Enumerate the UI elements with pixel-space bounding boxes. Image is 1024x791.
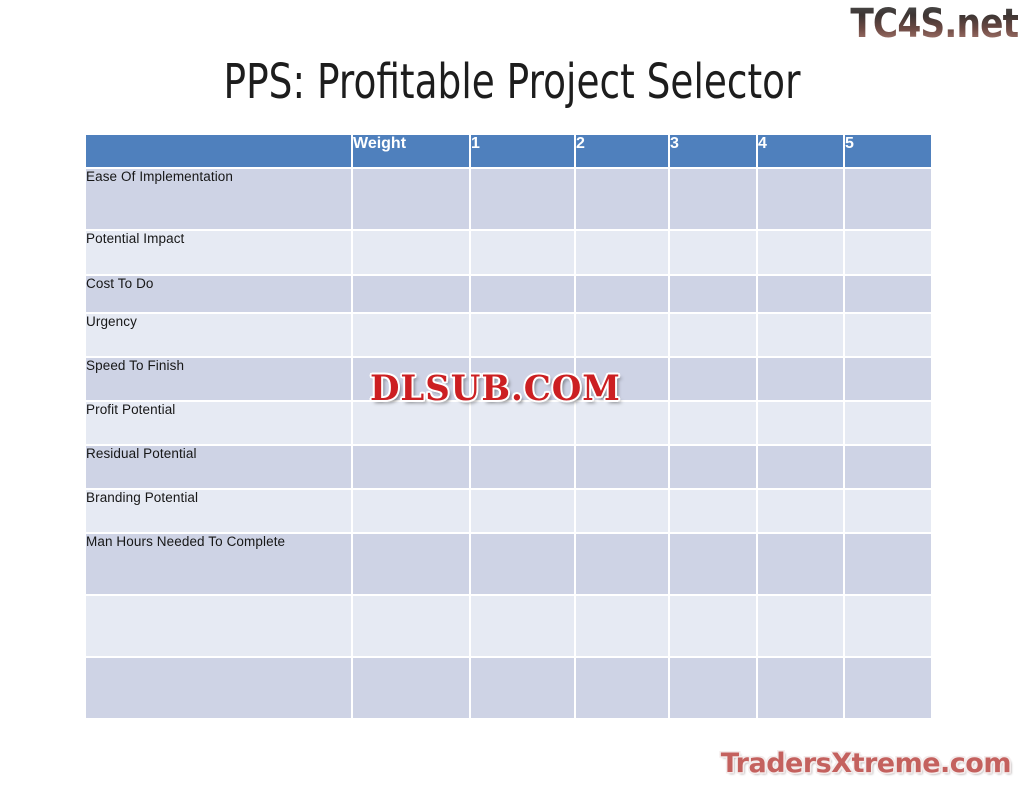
table-header-row: Weight 1 2 3 4 5 (86, 135, 931, 169)
project-scoring-table: Weight 1 2 3 4 5 Ease Of Implementation … (86, 135, 931, 720)
cell-score-4[interactable] (758, 231, 845, 276)
row-label[interactable] (86, 596, 353, 658)
cell-score-3[interactable] (670, 358, 758, 402)
table-row: Potential Impact (86, 231, 931, 276)
cell-score-2[interactable] (576, 276, 670, 314)
table-row: Urgency (86, 314, 931, 358)
row-label: Branding Potential (86, 490, 353, 534)
cell-score-1[interactable] (471, 276, 576, 314)
cell-weight[interactable] (353, 658, 471, 720)
header-score-3: 3 (670, 135, 758, 169)
cell-score-5[interactable] (845, 358, 931, 402)
cell-weight[interactable] (353, 596, 471, 658)
table-body: Ease Of Implementation Potential Impact … (86, 169, 931, 720)
table-row (86, 658, 931, 720)
cell-score-5[interactable] (845, 276, 931, 314)
cell-score-1[interactable] (471, 490, 576, 534)
page-title: PPS: Profitable Project Selector (113, 56, 912, 109)
row-label: Residual Potential (86, 446, 353, 490)
cell-score-1[interactable] (471, 231, 576, 276)
row-label: Man Hours Needed To Complete (86, 534, 353, 596)
cell-score-4[interactable] (758, 490, 845, 534)
row-label: Potential Impact (86, 231, 353, 276)
cell-score-5[interactable] (845, 596, 931, 658)
cell-score-4[interactable] (758, 276, 845, 314)
cell-score-1[interactable] (471, 596, 576, 658)
cell-score-5[interactable] (845, 231, 931, 276)
header-weight: Weight (353, 135, 471, 169)
cell-score-1[interactable] (471, 534, 576, 596)
cell-score-2[interactable] (576, 169, 670, 231)
cell-score-3[interactable] (670, 276, 758, 314)
table-header: Weight 1 2 3 4 5 (86, 135, 931, 169)
cell-score-1[interactable] (471, 658, 576, 720)
cell-score-1[interactable] (471, 446, 576, 490)
row-label: Cost To Do (86, 276, 353, 314)
cell-score-3[interactable] (670, 231, 758, 276)
header-score-4: 4 (758, 135, 845, 169)
table-row: Cost To Do (86, 276, 931, 314)
cell-score-2[interactable] (576, 314, 670, 358)
cell-score-1[interactable] (471, 169, 576, 231)
cell-score-3[interactable] (670, 534, 758, 596)
row-label: Profit Potential (86, 402, 353, 446)
cell-score-2[interactable] (576, 231, 670, 276)
table-row: Branding Potential (86, 490, 931, 534)
cell-score-3[interactable] (670, 446, 758, 490)
cell-weight[interactable] (353, 314, 471, 358)
cell-score-5[interactable] (845, 446, 931, 490)
cell-score-5[interactable] (845, 314, 931, 358)
cell-score-2[interactable] (576, 658, 670, 720)
cell-score-3[interactable] (670, 169, 758, 231)
cell-score-4[interactable] (758, 314, 845, 358)
table-row: Residual Potential (86, 446, 931, 490)
table-row (86, 596, 931, 658)
cell-score-4[interactable] (758, 402, 845, 446)
row-label: Speed To Finish (86, 358, 353, 402)
header-score-1: 1 (471, 135, 576, 169)
header-score-5: 5 (845, 135, 931, 169)
cell-score-3[interactable] (670, 658, 758, 720)
cell-score-2[interactable] (576, 596, 670, 658)
cell-score-3[interactable] (670, 490, 758, 534)
cell-score-4[interactable] (758, 534, 845, 596)
row-label[interactable] (86, 658, 353, 720)
cell-score-4[interactable] (758, 446, 845, 490)
slide-canvas: { "brand": { "logo_text": "TC4S.net" }, … (0, 0, 1024, 791)
cell-score-3[interactable] (670, 314, 758, 358)
row-label: Urgency (86, 314, 353, 358)
cell-score-4[interactable] (758, 596, 845, 658)
watermark-bottom-right: TradersXtreme.com (721, 750, 1011, 777)
cell-score-5[interactable] (845, 490, 931, 534)
cell-score-2[interactable] (576, 534, 670, 596)
header-score-2: 2 (576, 135, 670, 169)
cell-score-2[interactable] (576, 446, 670, 490)
table-row: Man Hours Needed To Complete (86, 534, 931, 596)
cell-weight[interactable] (353, 169, 471, 231)
cell-score-5[interactable] (845, 169, 931, 231)
cell-score-4[interactable] (758, 358, 845, 402)
watermark-center: DLSUB.COM (370, 371, 621, 406)
brand-logo: TC4S.net (850, 4, 1018, 44)
cell-score-5[interactable] (845, 402, 931, 446)
cell-weight[interactable] (353, 231, 471, 276)
cell-weight[interactable] (353, 490, 471, 534)
row-label: Ease Of Implementation (86, 169, 353, 231)
cell-score-5[interactable] (845, 658, 931, 720)
cell-score-1[interactable] (471, 314, 576, 358)
cell-score-5[interactable] (845, 534, 931, 596)
cell-weight[interactable] (353, 534, 471, 596)
table-row: Ease Of Implementation (86, 169, 931, 231)
cell-score-4[interactable] (758, 169, 845, 231)
cell-weight[interactable] (353, 276, 471, 314)
cell-score-2[interactable] (576, 490, 670, 534)
cell-score-4[interactable] (758, 658, 845, 720)
cell-weight[interactable] (353, 446, 471, 490)
header-criteria (86, 135, 353, 169)
cell-score-3[interactable] (670, 402, 758, 446)
cell-score-3[interactable] (670, 596, 758, 658)
